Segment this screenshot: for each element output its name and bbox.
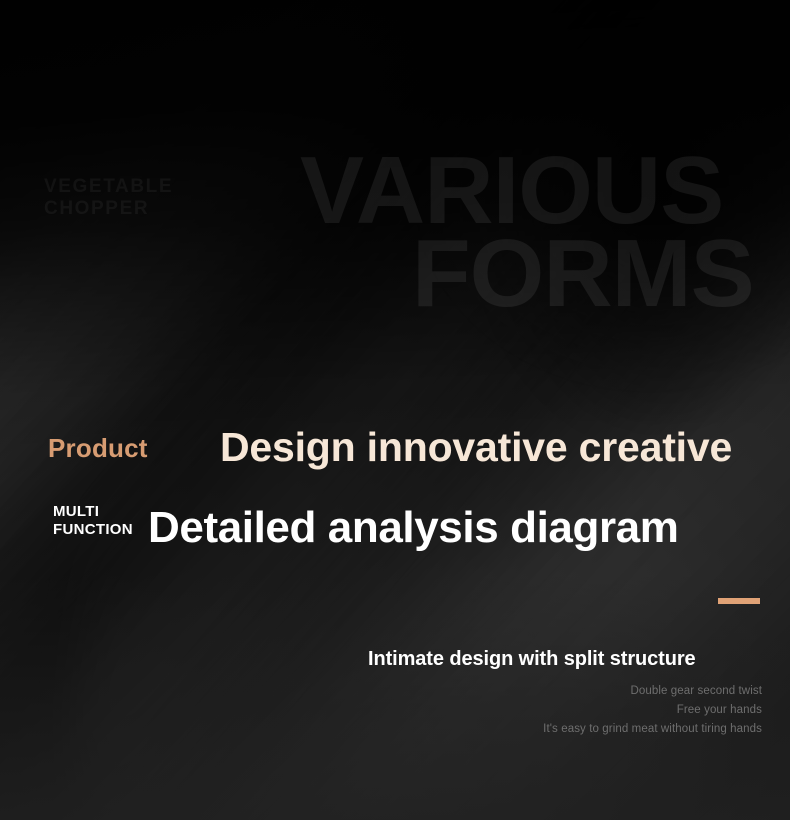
- headline-secondary: Detailed analysis diagram: [148, 503, 678, 553]
- feature-bullet: Free your hands: [543, 701, 762, 720]
- kicker-multi-function: MULTI FUNCTION: [53, 503, 133, 539]
- watermark-headline-line-2: FORMS: [412, 233, 790, 316]
- kicker-product: Product: [48, 433, 148, 464]
- feature-bullet: Double gear second twist: [543, 682, 762, 701]
- headline-primary: Design innovative creative: [220, 424, 732, 471]
- watermark-headline: VARIOUS FORMS: [300, 150, 790, 315]
- product-banner: VEGETABLE CHOPPER VARIOUS FORMS Product …: [0, 0, 790, 820]
- accent-rule-divider: [718, 598, 760, 604]
- subheadline: Intimate design with split structure: [368, 648, 696, 671]
- feature-bullet: It's easy to grind meat without tiring h…: [543, 720, 762, 739]
- watermark-brand: VEGETABLE CHOPPER: [44, 176, 173, 220]
- feature-bullet-list: Double gear second twist Free your hands…: [543, 682, 762, 739]
